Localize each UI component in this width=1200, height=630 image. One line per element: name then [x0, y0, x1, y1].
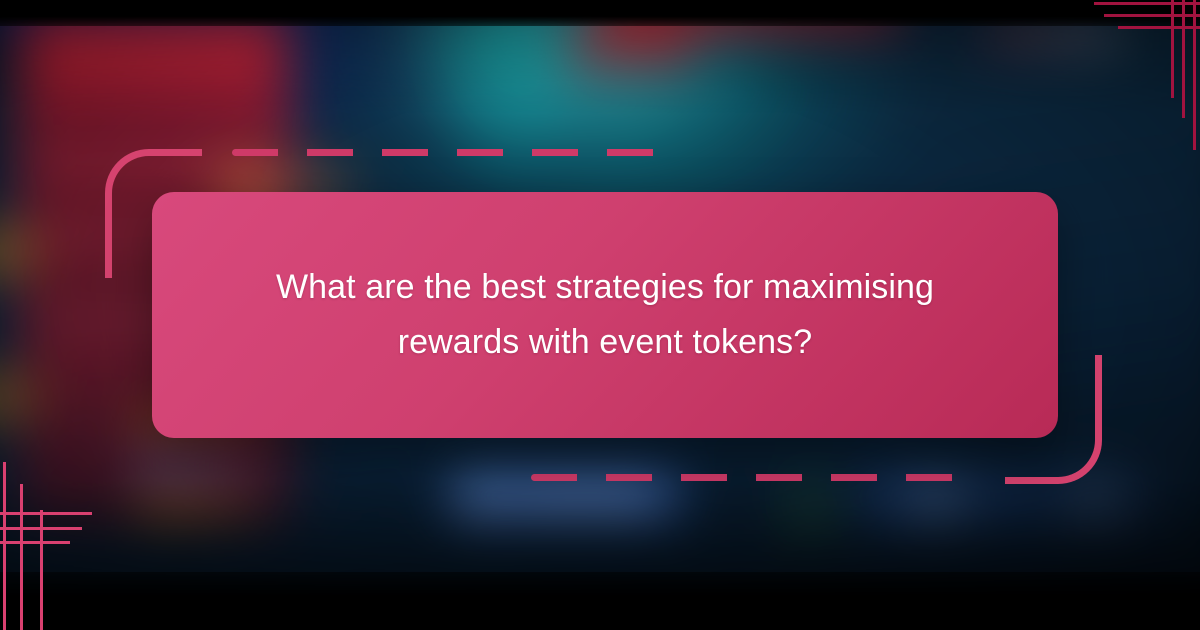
bracket-top-right-horizontal [1104, 14, 1200, 17]
bracket-bottom-left-horizontal [0, 541, 70, 544]
background-sidebar-header [30, 18, 280, 90]
bracket-bottom-left-horizontal [0, 512, 92, 515]
bracket-bottom-left-vertical [40, 510, 43, 630]
dashed-rail-bottom [531, 474, 968, 481]
bracket-top-right-vertical [1171, 0, 1174, 98]
bracket-top-right-horizontal [1118, 26, 1200, 29]
bracket-bottom-left-vertical [20, 484, 23, 630]
screenshot-stage: What are the best strategies for maximis… [0, 0, 1200, 630]
bracket-bottom-left-vertical [3, 462, 6, 630]
background-red-banner-secondary [572, 20, 692, 80]
background-accent-row [136, 455, 256, 481]
background-chip [1080, 484, 1114, 518]
question-text: What are the best strategies for maximis… [218, 260, 992, 370]
background-chip [790, 480, 830, 540]
background-chip [920, 484, 954, 518]
background-button-label [508, 490, 658, 508]
bracket-top-right-vertical [1182, 0, 1185, 118]
background-button-icon [465, 484, 495, 514]
question-card: What are the best strategies for maximis… [152, 192, 1058, 438]
bracket-top-right-vertical [1193, 0, 1196, 150]
dashed-rail-top [232, 149, 669, 156]
background-accent-row [136, 495, 256, 517]
letterbox-bottom [0, 572, 1200, 630]
background-list-row [34, 108, 274, 138]
letterbox-top [0, 0, 1200, 26]
